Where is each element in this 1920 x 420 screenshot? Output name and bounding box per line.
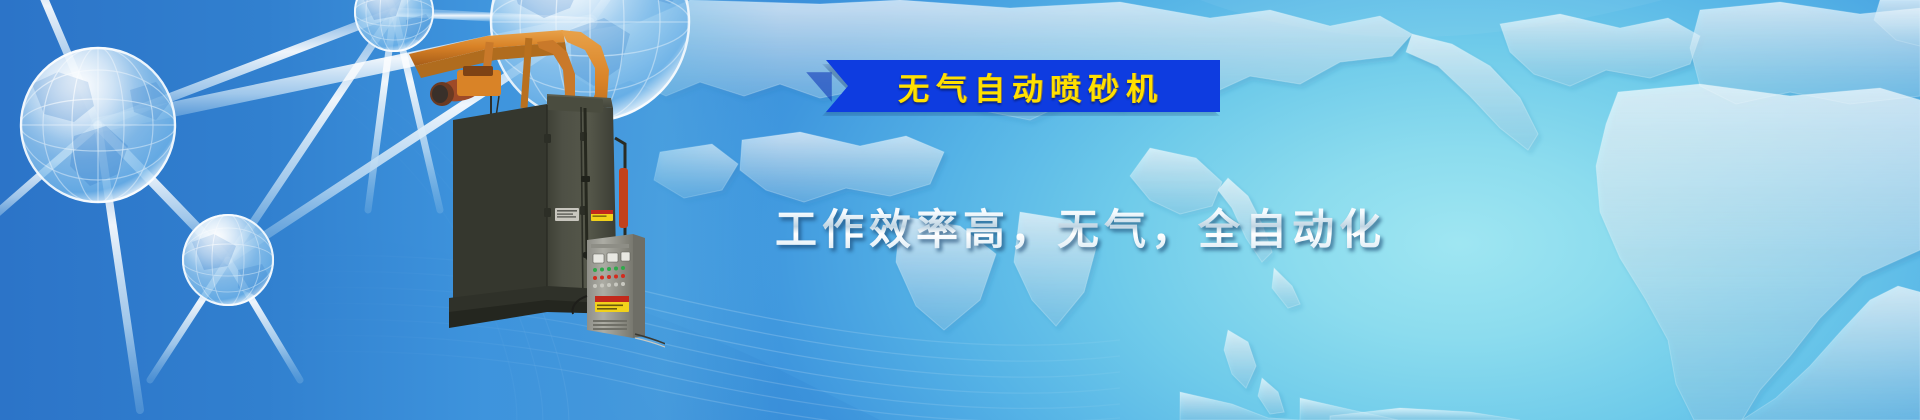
product-banner: 无气自动喷砂机 工作效率高，无气，全自动化 工作效率高，无气，全自动化 — [0, 0, 1920, 420]
globe-large-left — [20, 47, 176, 203]
title-ribbon: 无气自动喷砂机 — [826, 60, 1220, 112]
sandblasting-machine-image — [395, 8, 665, 353]
banner-subtitle: 工作效率高，无气，全自动化 — [775, 196, 1386, 257]
globe-small-bottom — [182, 214, 274, 306]
banner-title: 无气自动喷砂机 — [826, 60, 1220, 112]
